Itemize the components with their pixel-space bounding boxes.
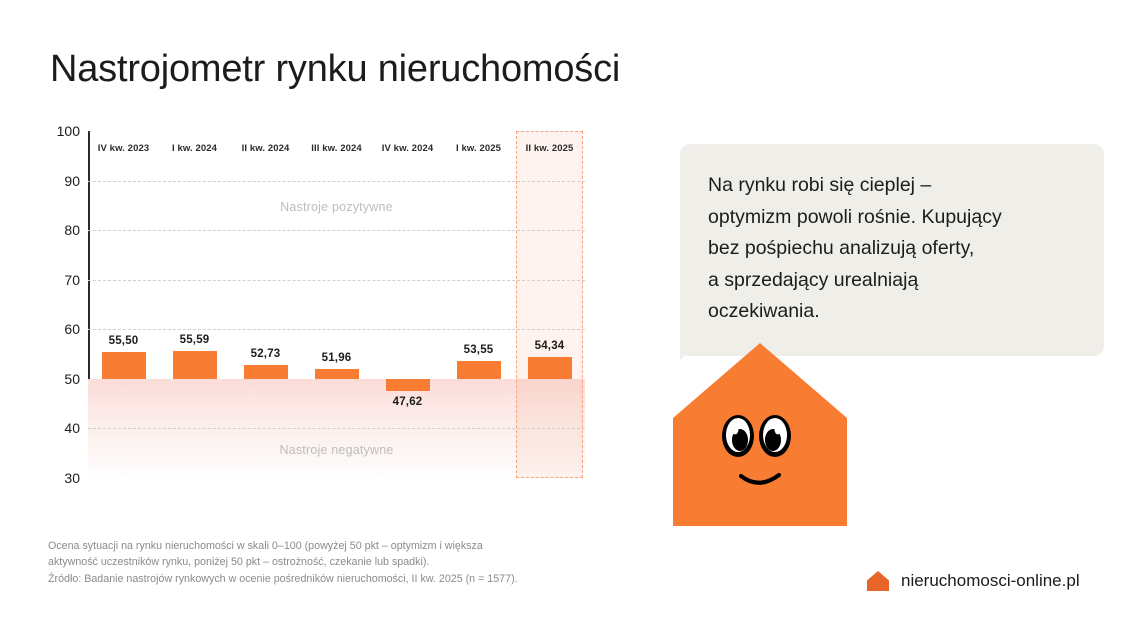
bar-0	[102, 352, 146, 379]
category-label-3: III kw. 2024	[301, 143, 372, 154]
commentary-text: Na rynku robi się cieplej – optymizm pow…	[708, 170, 1076, 328]
bar-1	[173, 351, 217, 379]
bar-value-label-2: 52,73	[230, 348, 301, 360]
footnote-line-1: Ocena sytuacji na rynku nieruchomości w …	[48, 538, 628, 554]
category-label-5: I kw. 2025	[443, 143, 514, 154]
footnote-line-2: aktywność uczestników rynku, poniżej 50 …	[48, 554, 628, 570]
bar-5	[457, 361, 501, 379]
house-mascot	[645, 340, 875, 535]
y-axis-tick-30: 30	[64, 470, 80, 486]
gridline-80	[88, 230, 585, 231]
bar-3	[315, 369, 359, 379]
y-axis-tick-100: 100	[57, 123, 80, 139]
bar-6	[528, 357, 572, 379]
footnote: Ocena sytuacji na rynku nieruchomości w …	[48, 538, 628, 587]
category-label-2: II kw. 2024	[230, 143, 301, 154]
plot-area: 30405060708090100Nastroje pozytywneNastr…	[88, 131, 585, 478]
footnote-source: Źródło: Badanie nastrojów rynkowych w oc…	[48, 571, 628, 587]
commentary-line-2: optymizm powoli rośnie. Kupujący	[708, 202, 1076, 234]
infographic-page: Nastrojometr rynku nieruchomości 3040506…	[0, 0, 1140, 641]
y-axis-tick-50: 50	[64, 371, 80, 387]
bar-value-label-5: 53,55	[443, 344, 514, 356]
category-label-4: IV kw. 2024	[372, 143, 443, 154]
mascot-right-eye-glint	[775, 426, 782, 435]
brand-logo[interactable]: nieruchomosci-online.pl	[866, 570, 1080, 592]
house-mascot-illustration	[645, 340, 875, 535]
y-axis-tick-90: 90	[64, 173, 80, 189]
sentiment-bar-chart: 30405060708090100Nastroje pozytywneNastr…	[46, 124, 591, 484]
brand-logo-text: nieruchomosci-online.pl	[901, 571, 1080, 591]
bar-4	[386, 379, 430, 391]
commentary-line-4: a sprzedający urealniają	[708, 265, 1076, 297]
y-axis-tick-60: 60	[64, 321, 80, 337]
bar-value-label-0: 55,50	[88, 335, 159, 347]
commentary-line-3: bez pośpiechu analizują oferty,	[708, 233, 1076, 265]
gridline-90	[88, 181, 585, 182]
commentary-line-5: oczekiwania.	[708, 296, 1076, 328]
commentary-speech-bubble: Na rynku robi się cieplej – optymizm pow…	[680, 144, 1104, 356]
gridline-70	[88, 280, 585, 281]
highlighted-quarter-column	[516, 131, 583, 478]
bar-value-label-4: 47,62	[372, 396, 443, 408]
bar-value-label-6: 54,34	[514, 340, 585, 352]
gridline-40	[88, 428, 585, 429]
zone-label-positive: Nastroje pozytywne	[88, 200, 585, 214]
bar-value-label-3: 51,96	[301, 352, 372, 364]
bar-value-label-1: 55,59	[159, 334, 230, 346]
category-label-1: I kw. 2024	[159, 143, 230, 154]
category-label-0: IV kw. 2023	[88, 143, 159, 154]
mascot-left-eye-glint	[732, 426, 739, 435]
y-axis-tick-80: 80	[64, 222, 80, 238]
house-icon	[866, 570, 890, 592]
category-label-6: II kw. 2025	[514, 143, 585, 154]
page-title: Nastrojometr rynku nieruchomości	[50, 48, 620, 91]
y-axis-tick-40: 40	[64, 420, 80, 436]
bar-2	[244, 365, 288, 379]
commentary-line-1: Na rynku robi się cieplej –	[708, 170, 1076, 202]
zone-label-negative: Nastroje negatywne	[88, 443, 585, 457]
gridline-60	[88, 329, 585, 330]
y-axis-tick-70: 70	[64, 272, 80, 288]
